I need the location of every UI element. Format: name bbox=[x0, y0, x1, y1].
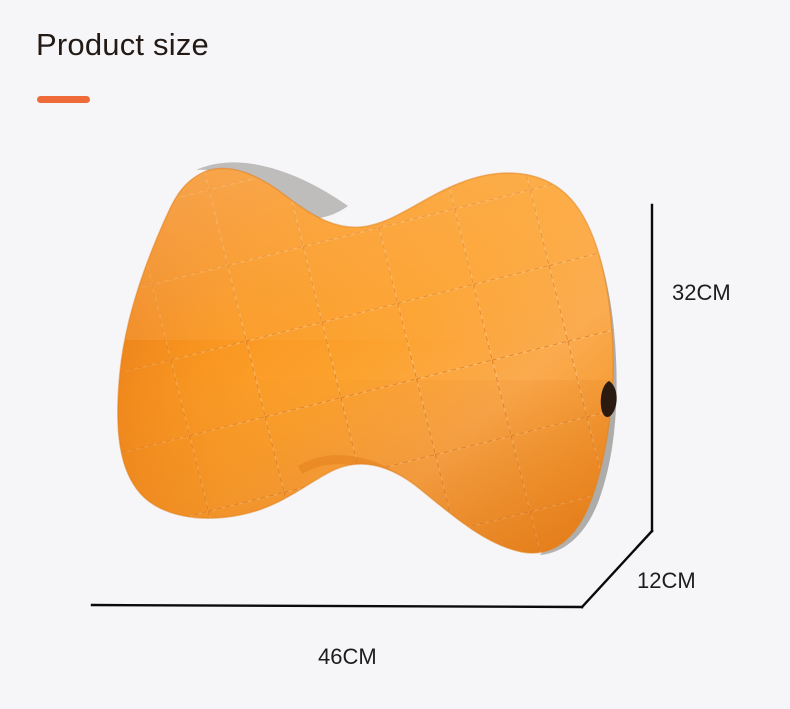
dimension-guides bbox=[92, 205, 652, 607]
dimension-label-depth: 12CM bbox=[637, 568, 696, 594]
pillow-back-panel bbox=[196, 162, 617, 555]
page-title: Product size bbox=[36, 27, 209, 63]
dimension-label-height: 32CM bbox=[672, 280, 731, 306]
title-accent-rule bbox=[37, 96, 90, 103]
inflation-valve-icon bbox=[601, 381, 617, 417]
product-size-panel: Product size bbox=[0, 0, 790, 709]
width-guide-line bbox=[92, 605, 582, 607]
product-illustration bbox=[0, 0, 790, 709]
dimension-label-width: 46CM bbox=[318, 644, 377, 670]
pillow-body bbox=[80, 140, 680, 600]
